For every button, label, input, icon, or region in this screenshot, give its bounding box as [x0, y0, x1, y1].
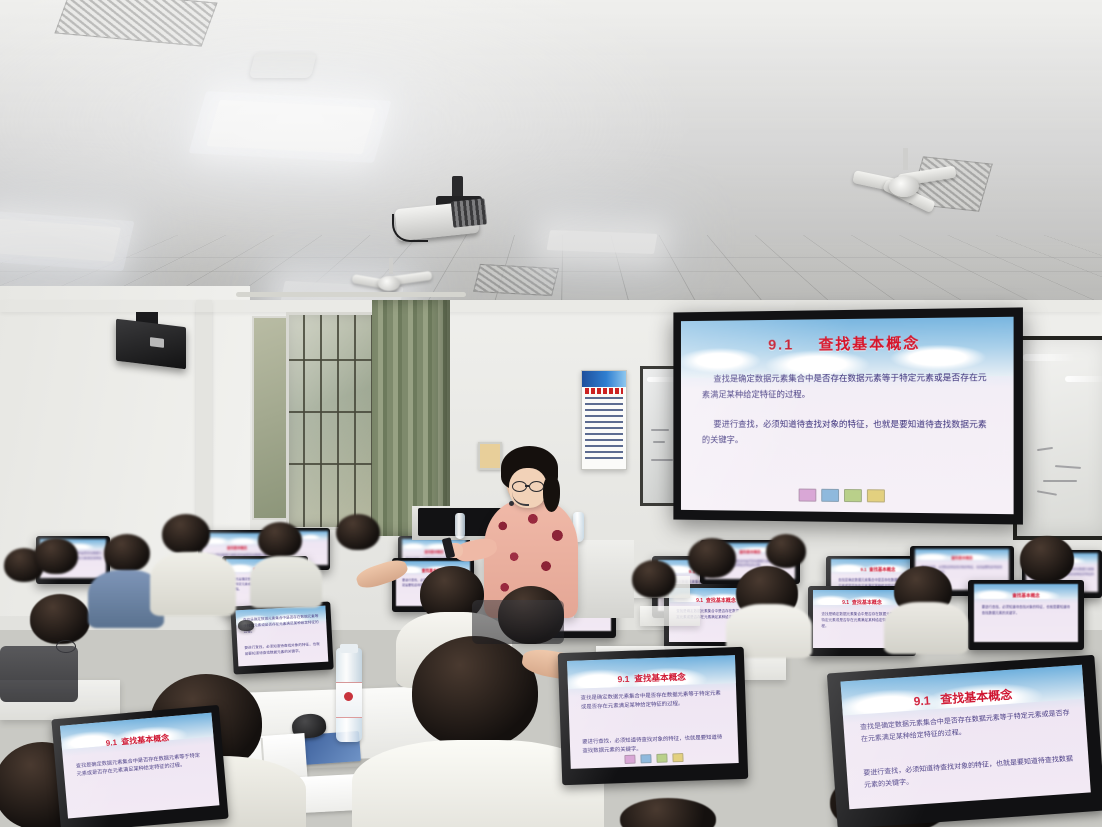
wall-notice-poster — [581, 370, 627, 470]
whiteboard-right — [1013, 336, 1102, 540]
whiteboard-writing — [653, 441, 665, 443]
window-bar — [320, 315, 322, 527]
student-body — [884, 602, 968, 654]
monitor-screen: 查找基本概念 要进行查找，必须知道待查找对象的特征，也就是要知道待查找数据元素的… — [974, 584, 1078, 641]
projection-screen: 9.1 查找基本概念 查找是确定数据元素集合中是否存在数据元素等于特定元素或是否… — [673, 307, 1023, 524]
window-curtain — [372, 300, 450, 536]
projected-slide: 9.1 查找基本概念 查找是确定数据元素集合中是否存在数据元素等于特定元素或是否… — [681, 317, 1014, 514]
student-head — [1020, 536, 1074, 582]
student-head — [766, 534, 806, 568]
student-head — [34, 538, 78, 574]
whiteboard-glare — [1023, 354, 1075, 361]
slide-paragraph-1: 查找是确定数据元素集合中是否存在数据元素等于特定元素或是否存在元素满足某种给定特… — [702, 370, 993, 403]
window-bar — [303, 315, 305, 527]
slide-number: 9.1 — [768, 337, 794, 354]
monitor: 查找是确定数据元素集合中是否存在数据元素等于特定元素或是否存在元素满足某种给定特… — [230, 601, 333, 674]
monitor: 9.1 查找基本概念 查找是确定数据元素集合中是否存在数据元素等于特定元素或是否… — [827, 655, 1102, 827]
poster-body-text — [585, 397, 623, 461]
computer-mouse[interactable] — [238, 620, 254, 631]
window-bar — [337, 315, 339, 527]
glasses-bridge — [525, 485, 529, 487]
student-head — [258, 522, 302, 558]
student-desk — [640, 606, 700, 626]
whiteboard-writing — [651, 429, 669, 431]
ceiling-fan-hub — [889, 176, 919, 197]
slide-nav-buttons[interactable] — [799, 489, 885, 503]
wall-pillar — [196, 300, 212, 540]
ceiling-shading — [0, 0, 1102, 330]
ceiling-fan-rod — [389, 258, 393, 274]
monitor: 9.1 查找基本概念 查找是确定数据元素集合中是否存在数据元素等于特定元素或是否… — [558, 647, 748, 785]
slide-title-text: 查找基本概念 — [819, 335, 921, 353]
nav-green-icon[interactable] — [844, 489, 862, 502]
student-head — [632, 560, 676, 598]
water-bottle — [455, 513, 465, 539]
student-head — [688, 538, 736, 578]
nav-pink-icon[interactable] — [799, 489, 817, 502]
student-head — [412, 636, 538, 748]
student-head — [336, 514, 380, 550]
student-head — [30, 594, 90, 644]
student-body — [250, 556, 322, 608]
nav-yellow-icon[interactable] — [867, 489, 885, 502]
student-body — [150, 552, 236, 616]
monitor: 查找基本概念 要进行查找，必须知道待查找对象的特征，也就是要知道待查找数据元素的… — [968, 580, 1084, 650]
monitor: 9.1 查找基本概念 查找是确定数据元素集合中是否存在数据元素等于特定元素或是否… — [51, 705, 228, 827]
chair — [0, 646, 78, 702]
instructor-hair — [543, 476, 560, 512]
curtain-rod — [236, 292, 466, 297]
microphone-tip — [509, 501, 514, 506]
window-bar — [354, 315, 356, 527]
whiteboard-writing — [1037, 490, 1057, 495]
projector-vents — [451, 198, 488, 227]
bottle-label-logo — [344, 692, 353, 701]
teacher-desk — [574, 540, 634, 618]
slide-paragraph-2: 要进行查找，必须知道待查找对象的特征，也就是要知道待查找数据元素的关键字。 — [702, 417, 993, 449]
poster-title-text — [585, 388, 623, 394]
glasses-icon — [529, 481, 544, 492]
framed-certificate — [478, 442, 502, 470]
bottle-cap — [340, 644, 358, 653]
whiteboard-glare — [1065, 376, 1102, 382]
ceiling-fan-rod — [903, 148, 908, 170]
chair — [472, 600, 564, 644]
whiteboard-writing — [1037, 447, 1053, 451]
speaker-badge — [150, 337, 164, 348]
slide-title: 9.1 查找基本概念 — [681, 331, 1014, 355]
student-head — [620, 798, 716, 827]
poster-header — [582, 371, 626, 387]
student-head — [104, 534, 150, 572]
classroom-photo: 9.1 查找基本概念 查找是确定数据元素集合中是否存在数据元素等于特定元素或是否… — [0, 0, 1102, 827]
ceiling-fan-hub — [378, 276, 400, 291]
whiteboard-writing — [1043, 480, 1077, 482]
whiteboard-writing — [651, 459, 673, 461]
student-head — [162, 514, 210, 554]
nav-blue-icon[interactable] — [821, 489, 839, 502]
ceiling — [0, 0, 1102, 330]
whiteboard-writing — [1055, 465, 1081, 468]
